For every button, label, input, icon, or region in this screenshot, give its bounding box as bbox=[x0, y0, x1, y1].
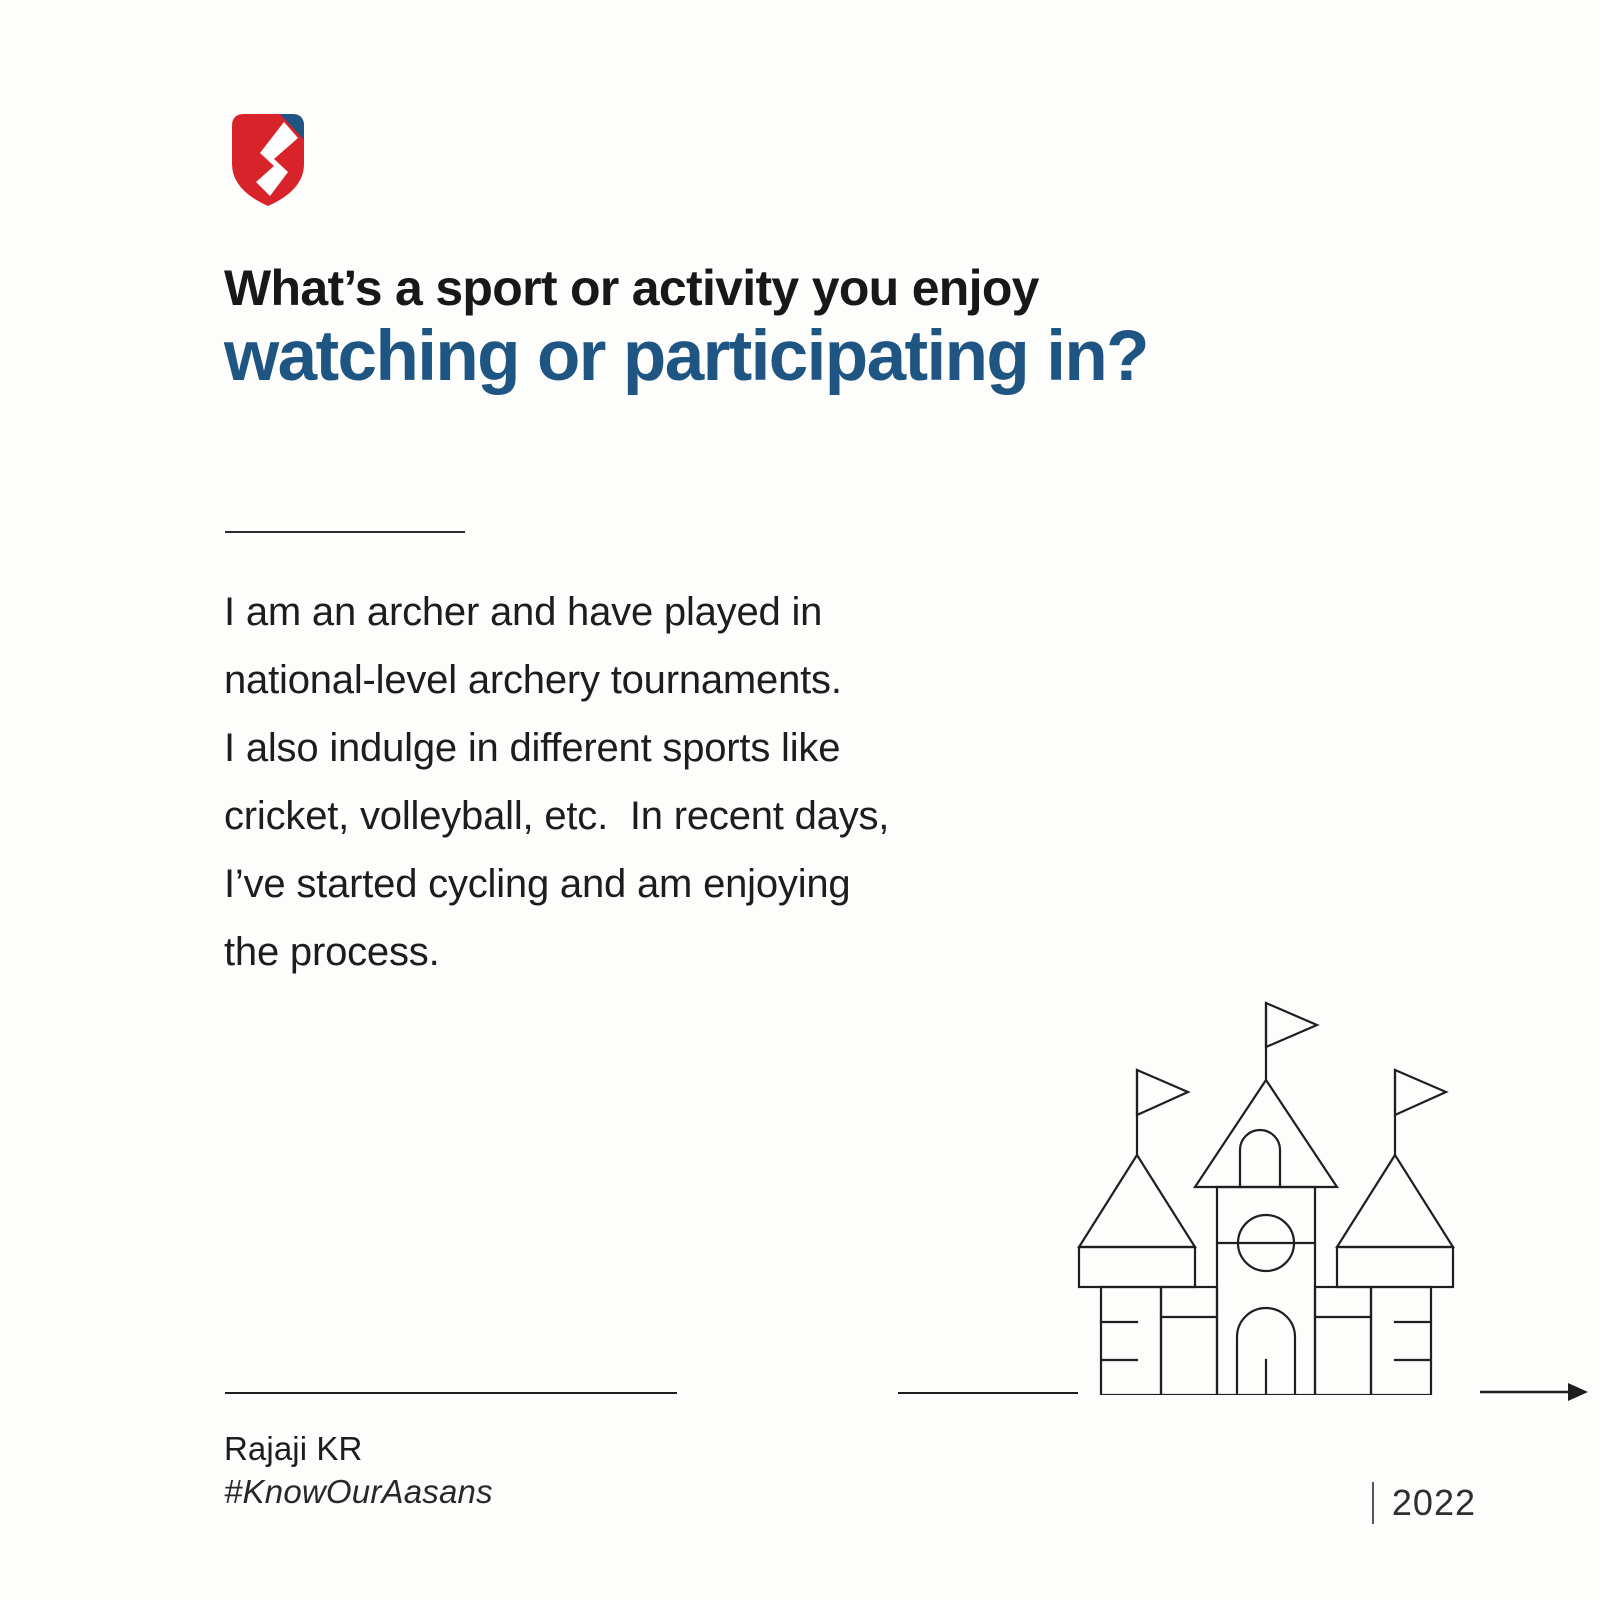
answer-line: cricket, volleyball, etc. In recent days… bbox=[224, 782, 1104, 850]
footer-divider-left bbox=[225, 1392, 677, 1394]
headline-line-1: What’s a sport or activity you enjoy bbox=[224, 262, 1514, 315]
answer-line: I am an archer and have played in bbox=[224, 578, 1104, 646]
answer-line: the process. bbox=[224, 918, 1104, 986]
ground-line-left bbox=[898, 1392, 1078, 1394]
castle-illustration bbox=[1055, 975, 1475, 1395]
headline-line-2: watching or participating in? bbox=[224, 317, 1514, 397]
answer-line: national-level archery tournaments. bbox=[224, 646, 1104, 714]
body-divider bbox=[225, 531, 465, 533]
year-block: 2022 bbox=[1372, 1482, 1476, 1524]
answer-line: I also indulge in different sports like bbox=[224, 714, 1104, 782]
credit-block: Rajaji KR #KnowOurAasans bbox=[224, 1428, 784, 1514]
year-label: 2022 bbox=[1392, 1482, 1476, 1524]
post-card: What’s a sport or activity you enjoy wat… bbox=[0, 0, 1600, 1600]
page-title: What’s a sport or activity you enjoy wat… bbox=[224, 262, 1514, 397]
shield-logo-icon bbox=[226, 112, 310, 208]
author-name: Rajaji KR bbox=[224, 1428, 784, 1470]
year-divider bbox=[1372, 1482, 1374, 1524]
answer-line: I’ve started cycling and am enjoying bbox=[224, 850, 1104, 918]
answer-text: I am an archer and have played in nation… bbox=[224, 578, 1104, 986]
campaign-hashtag: #KnowOurAasans bbox=[224, 1470, 784, 1514]
arrow-right-icon bbox=[1480, 1378, 1588, 1406]
